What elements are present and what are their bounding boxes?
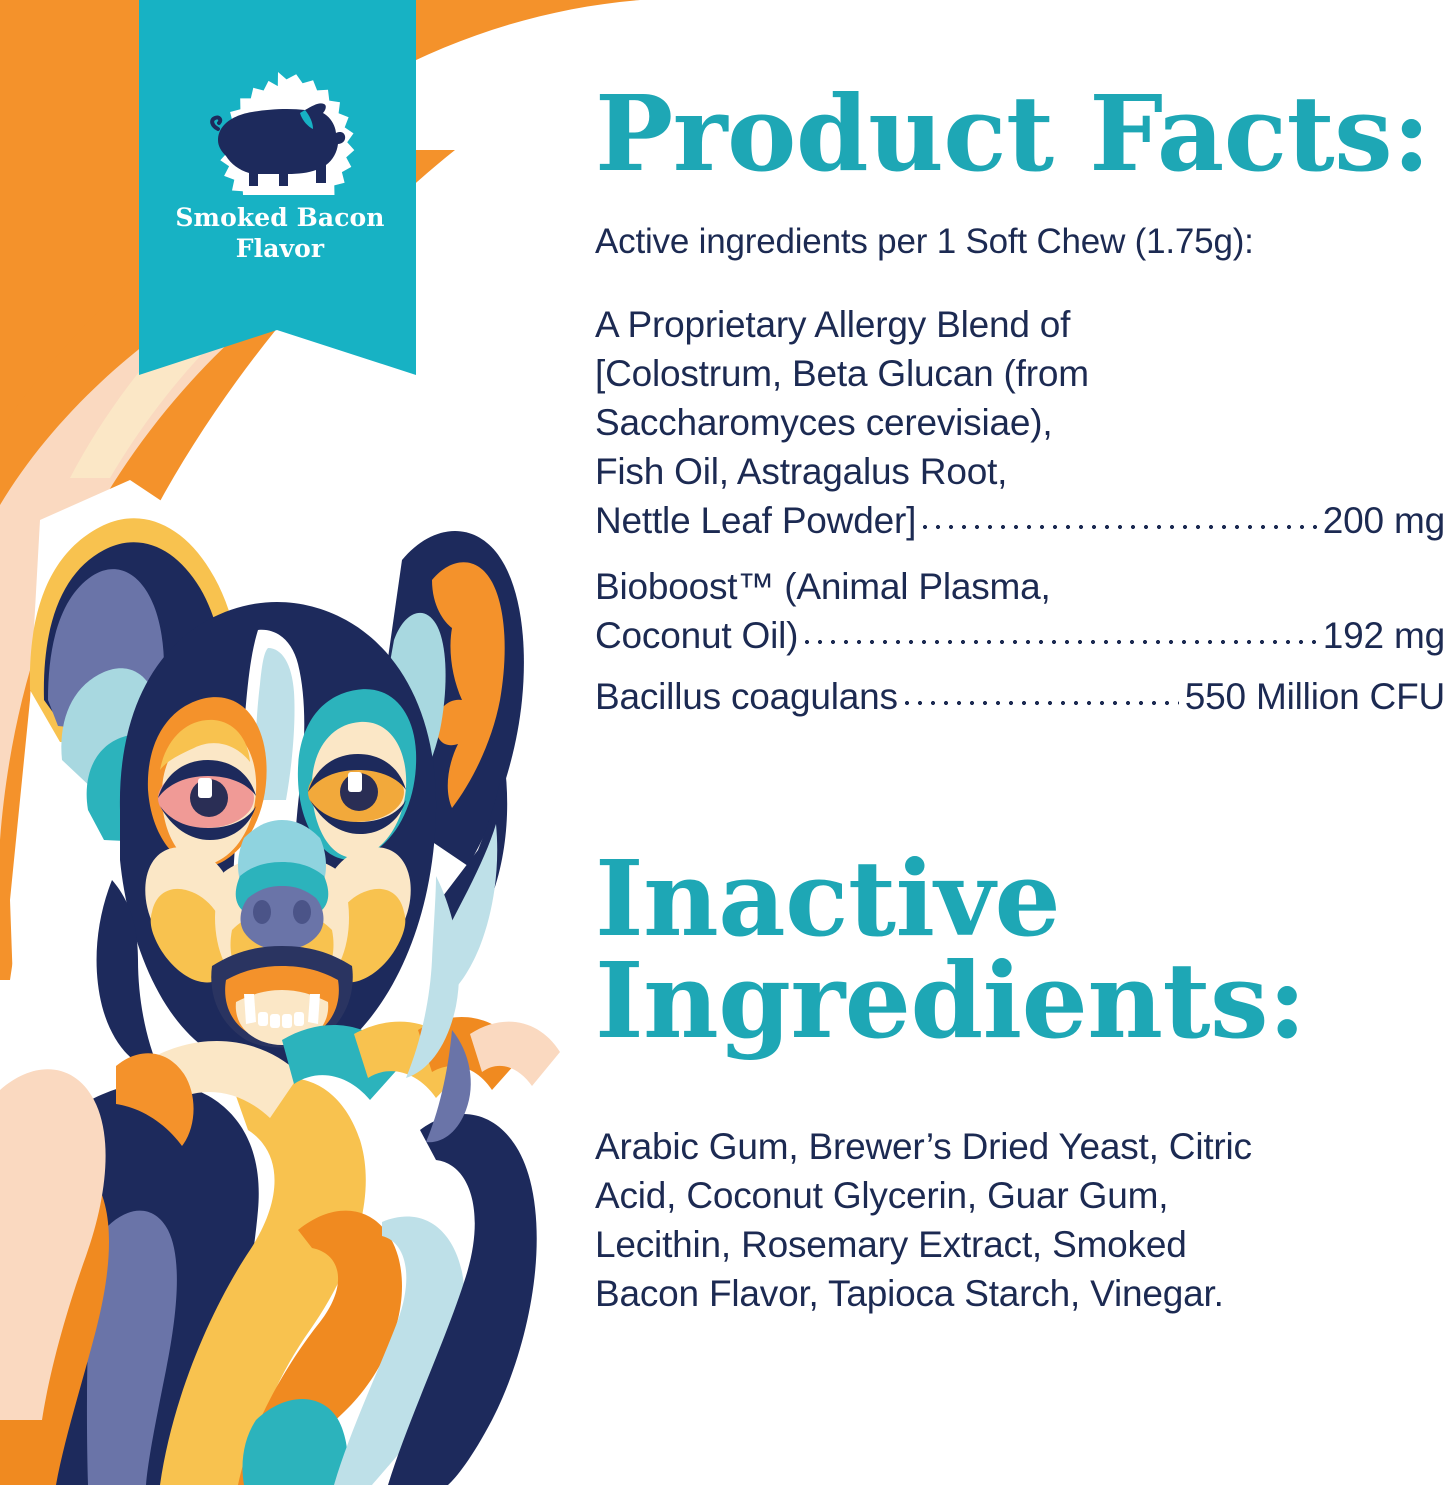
serving-size-line: Active ingredients per 1 Soft Chew (1.75… (595, 222, 1254, 262)
inactive-body-line: Lecithin, Rosemary Extract, Smoked (595, 1220, 1415, 1269)
inactive-body-line: Bacon Flavor, Tapioca Starch, Vinegar. (595, 1269, 1415, 1318)
ingredient-amount-row: Bacillus coagulans 550 Million CFU (595, 672, 1445, 721)
flavor-line-2: Flavor (140, 233, 420, 264)
ingredient-name-line: Fish Oil, Astragalus Root, (595, 447, 1445, 496)
inactive-heading-line-1: Inactive (595, 848, 1306, 950)
inactive-body-line: Arabic Gum, Brewer’s Dried Yeast, Citric (595, 1122, 1415, 1171)
dotted-leader (804, 639, 1317, 645)
ingredient-name-line: Bioboost™ (Animal Plasma, (595, 562, 1445, 611)
ingredient-name-line: [Colostrum, Beta Glucan (from (595, 349, 1445, 398)
dog-nose (241, 886, 324, 950)
ingredient-amount: 192 mg (1323, 611, 1445, 660)
inactive-heading-line-2: Ingredients: (595, 950, 1306, 1052)
ingredient-name-line: Nettle Leaf Powder] (595, 496, 916, 545)
ingredient-row-bioboost: Bioboost™ (Animal Plasma, Coconut Oil) 1… (595, 562, 1445, 660)
dog-illustration (0, 480, 560, 1485)
ingredient-amount: 550 Million CFU (1185, 672, 1445, 721)
flavor-banner-label: Smoked Bacon Flavor (140, 202, 420, 264)
ingredient-amount-row: Nettle Leaf Powder] 200 mg (595, 496, 1445, 545)
inactive-ingredients-body: Arabic Gum, Brewer’s Dried Yeast, Citric… (595, 1122, 1415, 1318)
ingredient-amount: 200 mg (1323, 496, 1445, 545)
ingredient-name-line: Bacillus coagulans (595, 672, 898, 721)
ingredient-name-line: A Proprietary Allergy Blend of (595, 300, 1445, 349)
product-facts-heading: Product Facts: (595, 83, 1430, 185)
ingredient-name-line: Saccharomyces cerevisiae), (595, 398, 1445, 447)
ingredient-row-bacillus: Bacillus coagulans 550 Million CFU (595, 672, 1445, 721)
inactive-body-line: Acid, Coconut Glycerin, Guar Gum, (595, 1171, 1415, 1220)
dotted-leader (904, 700, 1179, 706)
inactive-ingredients-heading: Inactive Ingredients: (595, 848, 1306, 1052)
facts-panel: Product Facts: Active ingredients per 1 … (586, 0, 1445, 1485)
ingredient-row-blend: A Proprietary Allergy Blend of [Colostru… (595, 300, 1445, 545)
flavor-line-1: Smoked Bacon (140, 202, 420, 233)
ingredient-name-line: Coconut Oil) (595, 611, 798, 660)
dotted-leader (922, 524, 1317, 530)
ingredient-amount-row: Coconut Oil) 192 mg (595, 611, 1445, 660)
